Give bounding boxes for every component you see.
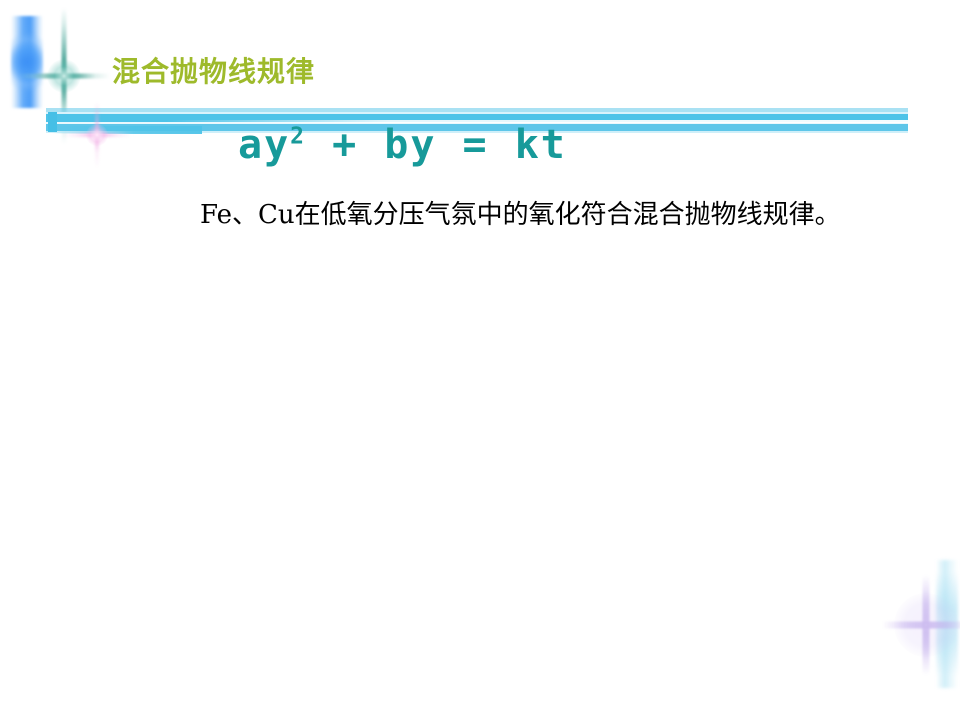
formula-exponent: 2	[290, 124, 306, 150]
formula-expression: ay2 + by = kt	[238, 122, 567, 168]
formula-tail: + by = kt	[306, 122, 567, 168]
slide-title: 混合抛物线规律	[112, 50, 315, 90]
rule-left-taper	[52, 126, 202, 134]
slide-canvas: 混合抛物线规律 ay2 + by = kt Fe、Cu在低氧分压气氛中的氧化符合…	[0, 0, 960, 720]
rule-left-tick	[48, 112, 57, 132]
blue-gradient-bar-decoration	[11, 16, 43, 108]
sparkle-vertical-ray	[923, 575, 930, 675]
sparkle-core-glow	[47, 59, 81, 93]
cyan-streak-decoration	[936, 560, 958, 688]
body-paragraph: Fe、Cu在低氧分压气氛中的氧化符合混合抛物线规律。	[144, 192, 874, 238]
formula-base: ay	[238, 122, 290, 168]
